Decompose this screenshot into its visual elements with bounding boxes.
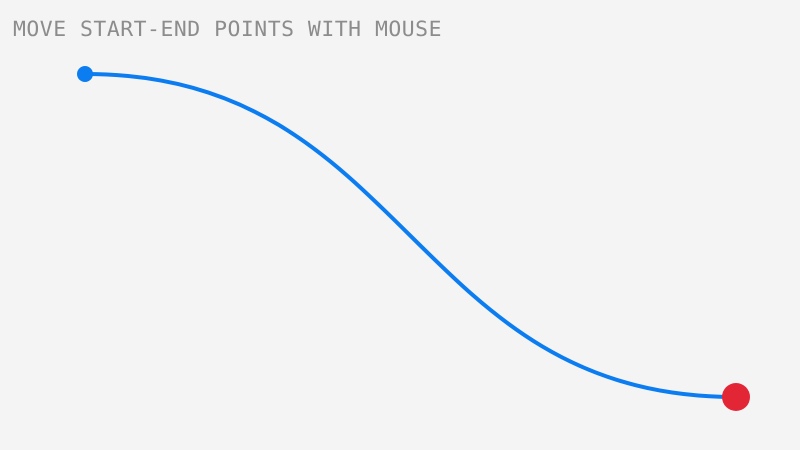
- bezier-curve-stage[interactable]: [0, 0, 800, 450]
- bezier-curve: [85, 74, 736, 397]
- start-point-handle[interactable]: [77, 66, 93, 82]
- demo-canvas[interactable]: MOVE START-END POINTS WITH MOUSE: [0, 0, 800, 450]
- end-point-handle[interactable]: [722, 383, 750, 411]
